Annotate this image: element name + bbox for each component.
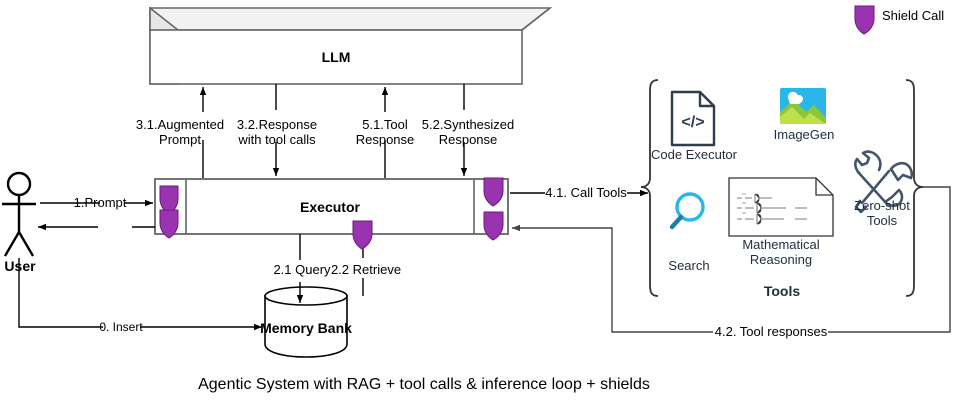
- diagram-caption: Agentic System with RAG + tool calls & i…: [198, 376, 650, 394]
- tool-label-zero-shot-tools: Zero-shotTools: [854, 199, 910, 228]
- edge-label-tool-response: 5.1.Tool Response: [356, 117, 415, 148]
- shield-executor-in-tools: [484, 212, 503, 240]
- edge-insert: [19, 258, 262, 327]
- legend-label: Shield Call: [882, 8, 944, 23]
- tool-label-mathematical-reasoning: MathematicalReasoning: [742, 238, 819, 267]
- edge-label-prompt: 1.Prompt: [74, 195, 127, 210]
- memory-bank-label: Memory Bank: [260, 320, 352, 337]
- edge-label-augmented-prompt: 3.1.Augmented Prompt: [136, 117, 224, 148]
- edge-label-query: 2.1 Query: [273, 262, 330, 277]
- executor-label: Executor: [300, 199, 360, 216]
- tool-label-code-executor: Code Executor: [651, 147, 737, 162]
- edge-label-response-tool-calls-line1: 3.2.Response: [237, 117, 317, 132]
- edge-label-synthesized-response: 5.2.Synthesized Response: [422, 117, 515, 148]
- edge-label-tool-response-line1: 5.1.Tool: [356, 117, 415, 132]
- edge-label-augmented-prompt-line1: 3.1.Augmented: [136, 117, 224, 132]
- diagram-canvas: </>: [0, 0, 970, 411]
- edge-label-augmented-prompt-line2: Prompt: [136, 132, 224, 147]
- tool-label-search: Search: [668, 258, 709, 273]
- tool-label-imagegen: ImageGen: [774, 127, 835, 142]
- diagram-vector-layer: </>: [0, 0, 970, 411]
- math-document-icon[interactable]: [729, 178, 833, 236]
- image-gen-icon[interactable]: [780, 88, 826, 124]
- user-label: User: [4, 258, 35, 275]
- edge-label-retrieve: 2.2 Retrieve: [331, 262, 401, 277]
- legend-shield-icon: [855, 6, 874, 34]
- edge-label-insert: 0. Insert: [99, 320, 142, 334]
- svg-text:</>: </>: [681, 114, 704, 131]
- edge-label-synthesized-response-line1: 5.2.Synthesized: [422, 117, 515, 132]
- shield-executor-memory: [353, 221, 372, 249]
- edge-label-tool-response-line2: Response: [356, 132, 415, 147]
- llm-node[interactable]: [150, 0, 550, 84]
- edge-label-response-tool-calls-line2: with tool calls: [237, 132, 317, 147]
- edge-label-call-tools: 4.1. Call Tools: [545, 185, 626, 200]
- edge-label-synthesized-response-line2: Response: [422, 132, 515, 147]
- edge-label-tool-responses: 4.2. Tool responses: [715, 324, 828, 339]
- code-document-icon[interactable]: </>: [672, 92, 714, 145]
- edge-label-response-tool-calls: 3.2.Response with tool calls: [237, 117, 317, 148]
- tools-group-label: Tools: [764, 283, 800, 300]
- magnifier-icon[interactable]: [672, 194, 703, 227]
- llm-label: LLM: [322, 49, 351, 66]
- user-node[interactable]: [2, 173, 36, 256]
